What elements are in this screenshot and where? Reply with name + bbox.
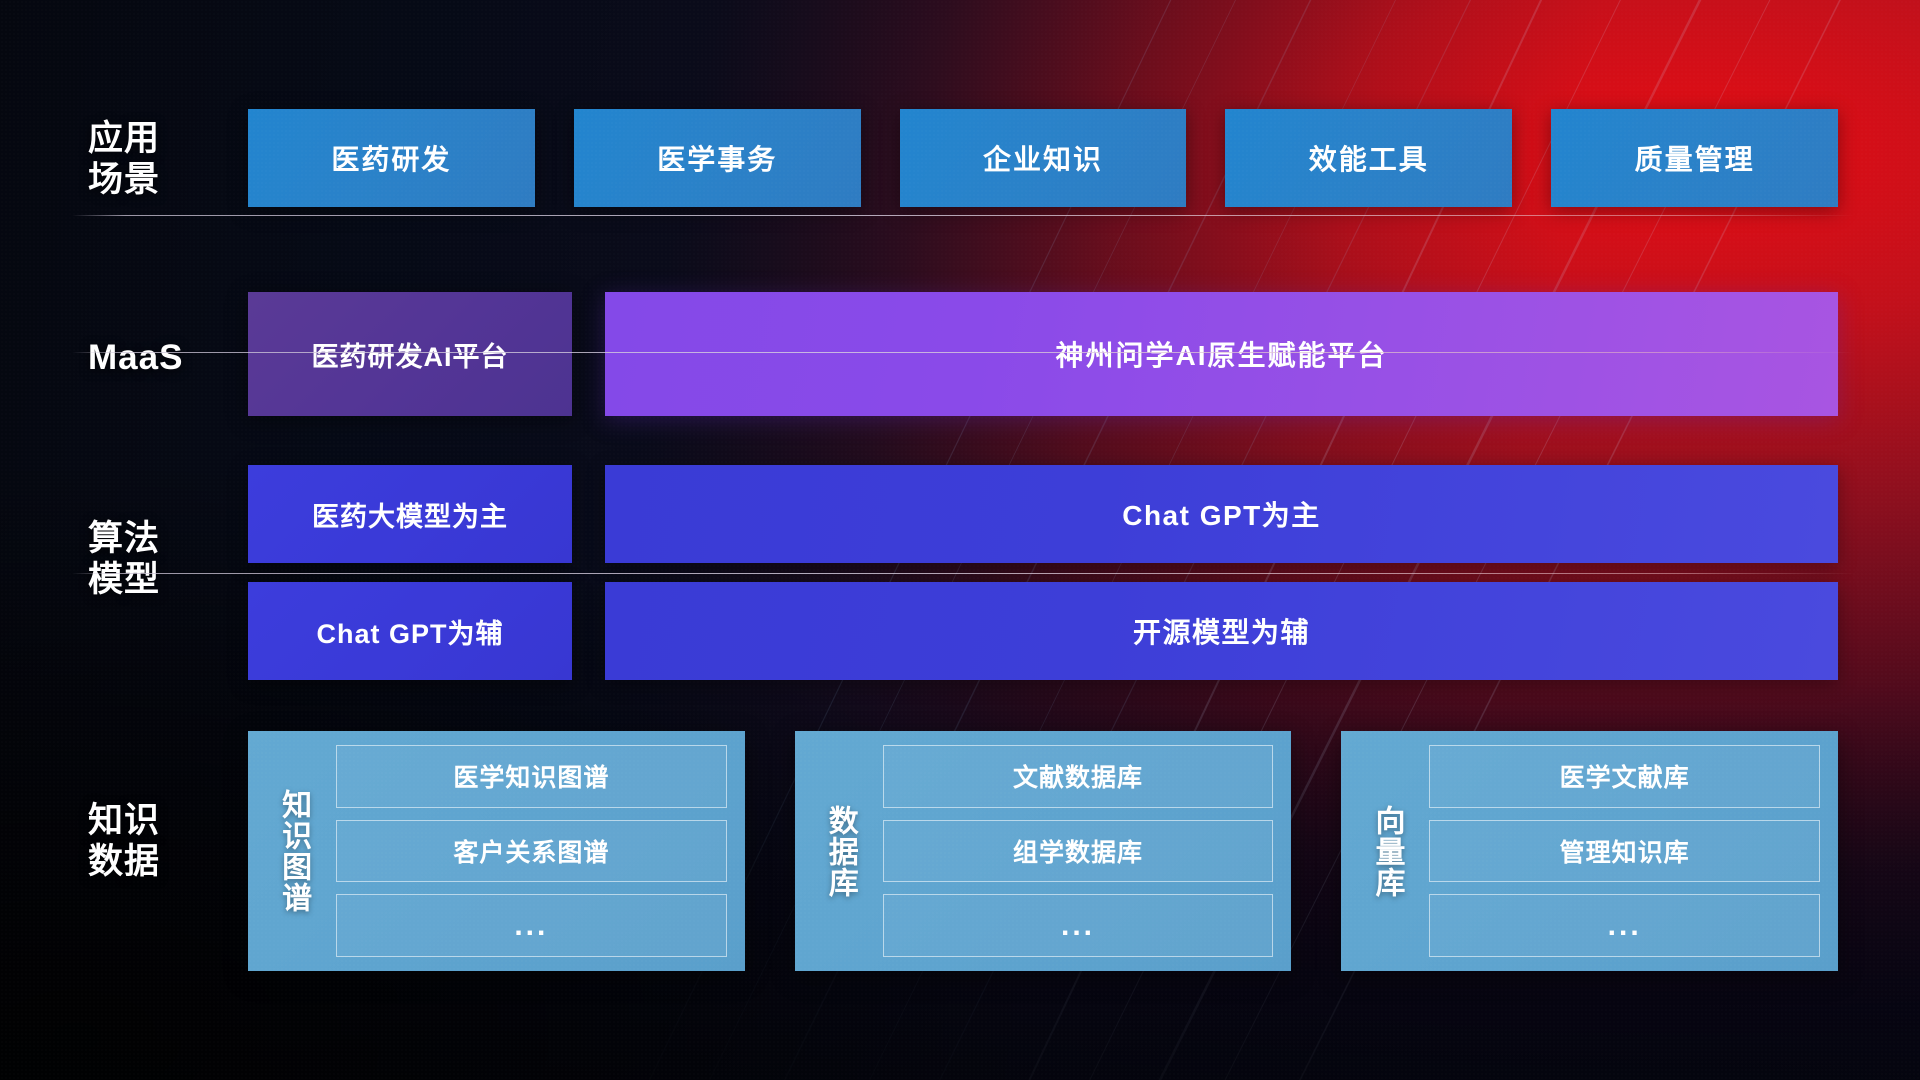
model-line-secondary: Chat GPT为辅 开源模型为辅: [248, 582, 1838, 680]
knowledge-panel-item-list: 文献数据库 组学数据库 ...: [871, 745, 1274, 957]
app-card-enterprise-knowledge[interactable]: 企业知识: [900, 109, 1187, 207]
row-divider-1: [72, 215, 1856, 216]
model-card-label: 开源模型为辅: [1133, 611, 1310, 651]
app-card-medical-affairs[interactable]: 医学事务: [574, 109, 861, 207]
architecture-stack: 应用场景 医药研发 医学事务 企业知识 效能工具 质量管理 MaaS 医药研发A…: [0, 0, 1920, 1080]
maas-card-label: 医药研发AI平台: [312, 335, 509, 374]
model-card-label: Chat GPT为辅: [316, 612, 503, 651]
knowledge-item-medical-knowledge-graph[interactable]: 医学知识图谱: [336, 745, 727, 808]
row-label-knowledge-data: 知识数据: [88, 800, 204, 883]
knowledge-panel-title: 向量库: [1355, 745, 1417, 957]
model-card-chatgpt-primary[interactable]: Chat GPT为主: [605, 465, 1838, 563]
model-card-label: 医药大模型为主: [312, 495, 508, 534]
knowledge-item-more[interactable]: ...: [336, 894, 727, 957]
knowledge-panel-vector-store[interactable]: 向量库 医学文献库 管理知识库 ...: [1341, 731, 1838, 971]
knowledge-item-label: ...: [1608, 909, 1642, 943]
knowledge-item-label: 客户关系图谱: [453, 833, 609, 869]
row-knowledge-data: 知识图谱 医学知识图谱 客户关系图谱 ... 数据库: [248, 731, 1838, 971]
row-label-application-scenario: 应用场景: [88, 118, 204, 201]
row-algorithm-models: 医药大模型为主 Chat GPT为主 Chat GPT为辅 开源模型为辅: [248, 465, 1838, 685]
app-card-label: 质量管理: [1635, 138, 1755, 178]
slide-canvas: 应用场景 医药研发 医学事务 企业知识 效能工具 质量管理 MaaS 医药研发A…: [0, 0, 1920, 1080]
app-card-label: 企业知识: [983, 138, 1103, 178]
model-line-primary: 医药大模型为主 Chat GPT为主: [248, 465, 1838, 563]
knowledge-item-management-knowledge-store[interactable]: 管理知识库: [1429, 820, 1820, 883]
knowledge-item-more[interactable]: ...: [1429, 894, 1820, 957]
app-card-drug-rd[interactable]: 医药研发: [248, 109, 535, 207]
knowledge-item-label: 组学数据库: [1013, 833, 1143, 869]
app-card-quality-management[interactable]: 质量管理: [1551, 109, 1838, 207]
knowledge-item-label: 医学知识图谱: [453, 758, 609, 794]
knowledge-item-label: 文献数据库: [1013, 758, 1143, 794]
model-card-label: Chat GPT为主: [1122, 494, 1321, 534]
knowledge-panel-item-list: 医学知识图谱 客户关系图谱 ...: [324, 745, 727, 957]
knowledge-item-more[interactable]: ...: [883, 894, 1274, 957]
row-label-maas: MaaS: [88, 337, 204, 378]
knowledge-panel-knowledge-graph[interactable]: 知识图谱 医学知识图谱 客户关系图谱 ...: [248, 731, 745, 971]
app-card-label: 医药研发: [331, 138, 451, 178]
knowledge-item-label: 医学文献库: [1560, 758, 1690, 794]
knowledge-item-customer-relation-graph[interactable]: 客户关系图谱: [336, 820, 727, 883]
row-application-scenarios: 医药研发 医学事务 企业知识 效能工具 质量管理: [248, 109, 1838, 207]
knowledge-item-literature-database[interactable]: 文献数据库: [883, 745, 1274, 808]
maas-card-drug-rd-ai-platform[interactable]: 医药研发AI平台: [248, 292, 572, 416]
row-divider-3: [72, 573, 1856, 574]
knowledge-item-label: ...: [1061, 909, 1095, 943]
knowledge-item-medical-literature-store[interactable]: 医学文献库: [1429, 745, 1820, 808]
model-card-opensource-secondary[interactable]: 开源模型为辅: [605, 582, 1838, 680]
app-card-label: 效能工具: [1309, 138, 1429, 178]
app-card-efficiency-tools[interactable]: 效能工具: [1225, 109, 1512, 207]
knowledge-item-label: 管理知识库: [1560, 833, 1690, 869]
knowledge-item-omics-database[interactable]: 组学数据库: [883, 820, 1274, 883]
row-label-algorithm-model: 算法模型: [88, 518, 204, 601]
model-card-chatgpt-secondary[interactable]: Chat GPT为辅: [248, 582, 572, 680]
knowledge-panel-item-list: 医学文献库 管理知识库 ...: [1417, 745, 1820, 957]
knowledge-panel-database[interactable]: 数据库 文献数据库 组学数据库 ...: [795, 731, 1292, 971]
app-card-label: 医学事务: [657, 138, 777, 178]
row-divider-2: [72, 352, 1856, 353]
knowledge-panel-title: 知识图谱: [262, 745, 324, 957]
row-maas: 医药研发AI平台 神州问学AI原生赋能平台: [248, 292, 1838, 416]
knowledge-item-label: ...: [514, 909, 548, 943]
model-card-pharma-llm-primary[interactable]: 医药大模型为主: [248, 465, 572, 563]
maas-card-label: 神州问学AI原生赋能平台: [1055, 334, 1387, 374]
maas-card-shenzhou-wenxue-platform[interactable]: 神州问学AI原生赋能平台: [605, 292, 1838, 416]
knowledge-panel-title: 数据库: [809, 745, 871, 957]
